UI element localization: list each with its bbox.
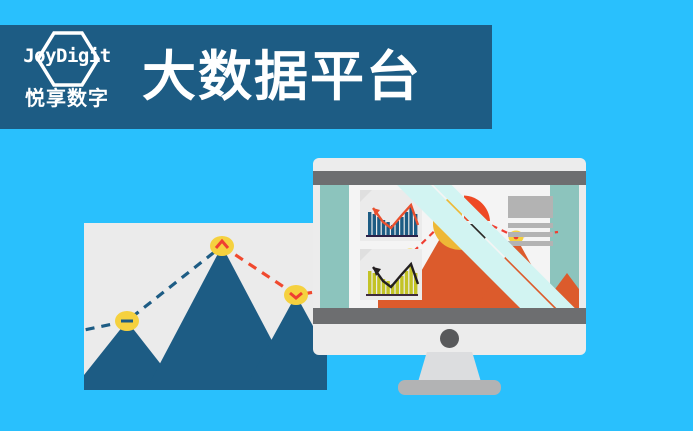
- desktop-monitor: [313, 158, 586, 355]
- placeholder-line: [508, 232, 553, 237]
- illustration-canvas: JoyDigit 悦享数字 大数据平台: [0, 0, 693, 431]
- monitor-screen[interactable]: [320, 185, 579, 308]
- page-title: 大数据平台: [142, 50, 422, 104]
- axis-line: [366, 294, 418, 296]
- left-panel-mountain-chart: [84, 223, 327, 390]
- monitor-top-bezel: [313, 171, 586, 185]
- baseline: [84, 383, 327, 390]
- placeholder-heading: [508, 196, 553, 218]
- bar: [368, 212, 371, 235]
- mini-bar-chart-yellow-graphic: [360, 249, 422, 300]
- logo: JoyDigit 悦享数字: [6, 27, 128, 127]
- screen-text-placeholder-block: [508, 196, 553, 250]
- logo-wordmark: JoyDigit: [6, 47, 128, 66]
- placeholder-line: [508, 223, 553, 228]
- mini-bar-chart-yellow[interactable]: [360, 249, 422, 300]
- bar: [373, 214, 376, 235]
- axis-line: [366, 235, 418, 237]
- monitor-bottom-bezel: [313, 308, 586, 324]
- monitor-stand-neck: [418, 352, 481, 382]
- mini-bar-chart-blue-graphic: [360, 190, 422, 241]
- bar: [405, 271, 408, 294]
- monitor-webcam-icon: [440, 329, 459, 348]
- monitor-stand-base: [398, 380, 501, 395]
- logo-subtitle: 悦享数字: [6, 89, 128, 109]
- mini-bar-chart-blue[interactable]: [360, 190, 422, 241]
- pie-slice-b: [464, 196, 490, 222]
- mountain-shape-far-right: [541, 273, 579, 308]
- bar: [373, 273, 376, 294]
- mountain-chart-panel: [84, 223, 327, 390]
- bar: [368, 271, 371, 294]
- pie-chart[interactable]: [433, 194, 491, 252]
- placeholder-line: [508, 241, 553, 246]
- bar: [405, 212, 408, 235]
- data-point-marker: [284, 285, 308, 305]
- bar: [400, 276, 403, 294]
- dashboard-content: [349, 185, 550, 308]
- bar: [400, 217, 403, 235]
- banner: JoyDigit 悦享数字 大数据平台: [0, 25, 492, 129]
- screen-side-panel-left: [320, 185, 349, 308]
